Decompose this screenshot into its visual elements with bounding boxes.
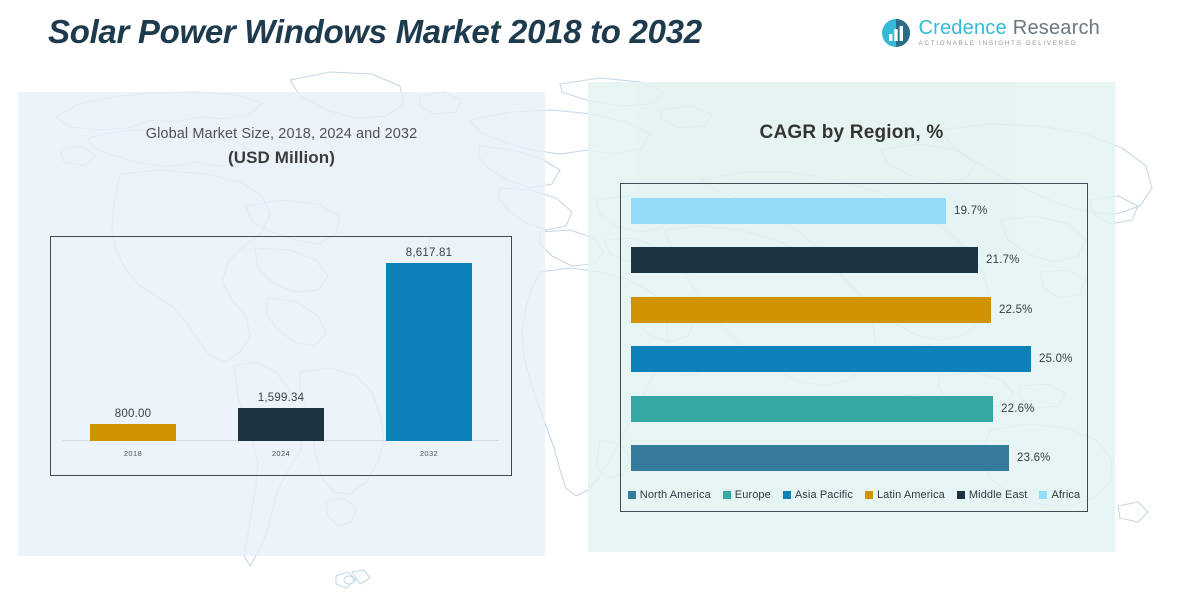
bar-column: 1,599.34: [208, 247, 355, 441]
legend-label: Middle East: [969, 489, 1028, 501]
bar-row: 22.5%: [631, 297, 1077, 323]
bar-value-label: 22.6%: [1001, 403, 1035, 415]
bar-rect-asia-pacific: [631, 346, 1031, 372]
logo-brand-secondary: Research: [1013, 18, 1100, 38]
bar-value-label: 22.5%: [999, 304, 1033, 316]
bar-rect-middle-east: [631, 247, 978, 273]
legend-item-north-america: North America: [628, 489, 711, 501]
bar-rect-2018: [90, 424, 176, 441]
cagr-title-text: CAGR by Region, %: [760, 122, 944, 143]
axis-tick-label: 2032: [356, 449, 503, 458]
legend-swatch: [723, 491, 731, 499]
header: Solar Power Windows Market 2018 to 2032 …: [0, 0, 1192, 72]
chart-legend: North America Europe Asia Pacific Latin …: [621, 489, 1087, 501]
market-size-bar-chart: 800.00 1,599.34 8,617.81 2018 2024 2032: [50, 236, 512, 476]
legend-item-africa: Africa: [1039, 489, 1080, 501]
vertical-bar-plot-area: 800.00 1,599.34 8,617.81 2018 2024 2032: [59, 247, 503, 467]
bar-row: 25.0%: [631, 346, 1077, 372]
bar-value-label: 21.7%: [986, 254, 1020, 266]
bar-column: 800.00: [60, 247, 207, 441]
legend-item-asia-pacific: Asia Pacific: [783, 489, 853, 501]
right-chart-title: CAGR by Region, %: [588, 122, 1115, 144]
bar-row: 23.6%: [631, 445, 1077, 471]
bar-row: 21.7%: [631, 247, 1077, 273]
bar-value-label: 23.6%: [1017, 452, 1051, 464]
bar-rect-north-america: [631, 445, 1009, 471]
bar-value-label: 800.00: [115, 408, 151, 420]
bar-value-label: 8,617.81: [406, 247, 452, 259]
bar-rect-europe: [631, 396, 993, 422]
legend-item-europe: Europe: [723, 489, 771, 501]
vertical-bar-columns: 800.00 1,599.34 8,617.81: [59, 247, 503, 441]
bar-rect-2032: [386, 263, 472, 441]
logo-brand-primary: Credence: [918, 18, 1006, 38]
legend-swatch: [628, 491, 636, 499]
axis-tick-label: 2024: [208, 449, 355, 458]
page-title: Solar Power Windows Market 2018 to 2032: [48, 13, 702, 51]
legend-item-latin-america: Latin America: [865, 489, 945, 501]
bar-column: 8,617.81: [356, 247, 503, 441]
bar-chart-circle-icon: [881, 18, 911, 48]
legend-swatch: [865, 491, 873, 499]
bar-value-label: 1,599.34: [258, 392, 304, 404]
bar-row: 19.7%: [631, 198, 1077, 224]
legend-swatch: [1039, 491, 1047, 499]
category-axis-labels: 2018 2024 2032: [59, 443, 503, 463]
legend-label: North America: [640, 489, 711, 501]
bar-row: 22.6%: [631, 396, 1077, 422]
bar-rect-africa: [631, 198, 946, 224]
bar-value-label: 19.7%: [954, 205, 988, 217]
legend-label: Europe: [735, 489, 771, 501]
legend-swatch: [783, 491, 791, 499]
bar-rect-latin-america: [631, 297, 991, 323]
brand-logo: Credence Research Actionable Insights De…: [881, 18, 1100, 48]
legend-swatch: [957, 491, 965, 499]
legend-label: Africa: [1051, 489, 1080, 501]
left-chart-title: Global Market Size, 2018, 2024 and 2032 …: [18, 126, 545, 168]
horizontal-bar-plot-area: 19.7% 21.7% 22.5% 25.0% 22.6% 23.6%: [631, 198, 1077, 471]
legend-label: Latin America: [877, 489, 945, 501]
cagr-by-region-bar-chart: 19.7% 21.7% 22.5% 25.0% 22.6% 23.6%: [620, 183, 1088, 512]
infographic-page: Solar Power Windows Market 2018 to 2032 …: [0, 0, 1192, 595]
left-chart-title-line2: (USD Million): [18, 148, 545, 168]
left-chart-title-line1: Global Market Size, 2018, 2024 and 2032: [18, 126, 545, 142]
axis-tick-label: 2018: [60, 449, 207, 458]
bar-rect-2024: [238, 408, 324, 441]
legend-item-middle-east: Middle East: [957, 489, 1028, 501]
bar-value-label: 25.0%: [1039, 353, 1073, 365]
logo-tagline: Actionable Insights Delivered: [918, 41, 1100, 48]
logo-wordmark: Credence Research Actionable Insights De…: [918, 18, 1100, 48]
legend-label: Asia Pacific: [795, 489, 853, 501]
